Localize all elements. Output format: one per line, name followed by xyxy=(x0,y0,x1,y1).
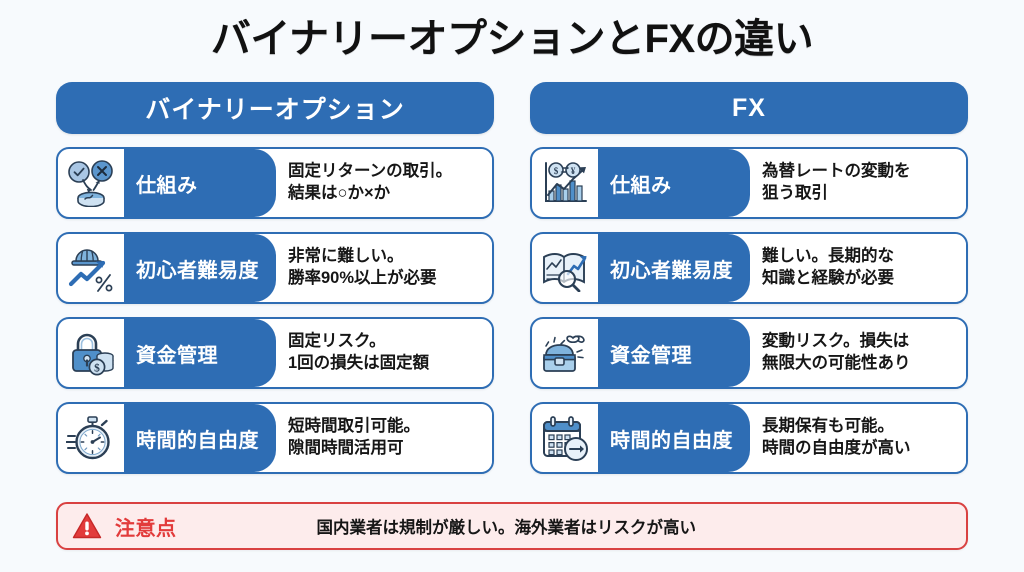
table-row: 資金管理 変動リスク。損失は 無限大の可能性あり xyxy=(530,317,968,389)
row-label: 資金管理 xyxy=(598,319,750,387)
currency-exchange-chart-icon: $ ¥ xyxy=(532,149,598,217)
row-left-band: 時間的自由度 xyxy=(532,404,750,472)
row-desc-line: 変動リスク。損失は xyxy=(762,331,958,353)
table-row: $ 資金管理 固定リスク。 1回の損失は固定額 xyxy=(56,317,494,389)
column-binary-option: バイナリーオプション xyxy=(56,82,494,474)
row-desc-line: 短時間取引可能。 xyxy=(288,416,484,438)
calendar-arrow-icon xyxy=(532,404,598,472)
warning-bar: 注意点 国内業者は規制が厳しい。海外業者はリスクが高い xyxy=(56,502,968,550)
row-label: 資金管理 xyxy=(124,319,276,387)
row-label: 初心者難易度 xyxy=(124,234,276,302)
row-left-band: $ ¥ 仕組み xyxy=(532,149,750,217)
treasure-chest-infinity-icon xyxy=(532,319,598,387)
row-left-band: 資金管理 xyxy=(532,319,750,387)
row-description: 固定リスク。 1回の損失は固定額 xyxy=(276,319,492,387)
row-description: 短時間取引可能。 隙間時間活用可 xyxy=(276,404,492,472)
column-header-binary-option: バイナリーオプション xyxy=(56,82,494,134)
table-row: 時間的自由度 長期保有も可能。 時間の自由度が高い xyxy=(530,402,968,474)
comparison-columns: バイナリーオプション xyxy=(0,62,1024,474)
svg-text:¥: ¥ xyxy=(571,166,576,176)
warning-text: 国内業者は規制が厳しい。海外業者はリスクが高い xyxy=(177,514,967,538)
row-description: 変動リスク。損失は 無限大の可能性あり xyxy=(750,319,966,387)
row-description: 為替レートの変動を 狙う取引 xyxy=(750,149,966,217)
table-row: $ ¥ 仕組み 為替レートの変動を 狙う取引 xyxy=(530,147,968,219)
rows-binary-option: 仕組み 固定リターンの取引。 結果は○か×か xyxy=(56,147,494,474)
row-desc-line: 1回の損失は固定額 xyxy=(288,353,484,375)
table-row: 時間的自由度 短時間取引可能。 隙間時間活用可 xyxy=(56,402,494,474)
row-description: 難しい。長期的な 知識と経験が必要 xyxy=(750,234,966,302)
row-left-band: 時間的自由度 xyxy=(58,404,276,472)
row-desc-line: 長期保有も可能。 xyxy=(762,416,958,438)
padlock-coins-icon: $ xyxy=(58,319,124,387)
row-left-band: 仕組み xyxy=(58,149,276,217)
row-left-band: 初心者難易度 xyxy=(532,234,750,302)
row-desc-line: 結果は○か×か xyxy=(288,183,484,205)
row-desc-line: 時間の自由度が高い xyxy=(762,438,958,460)
row-label: 初心者難易度 xyxy=(598,234,750,302)
column-header-fx: FX xyxy=(530,82,968,134)
row-label: 時間的自由度 xyxy=(124,404,276,472)
row-desc-line: 固定リスク。 xyxy=(288,331,484,353)
svg-text:$: $ xyxy=(94,362,100,375)
row-desc-line: 固定リターンの取引。 xyxy=(288,161,484,183)
row-desc-line: 為替レートの変動を xyxy=(762,161,958,183)
rows-fx: $ ¥ 仕組み 為替レートの変動を 狙う取引 xyxy=(530,147,968,474)
warning-triangle-icon xyxy=(72,512,102,540)
check-cross-coin-icon xyxy=(58,149,124,217)
page-title: バイナリーオプションとFXの違い xyxy=(0,0,1024,62)
row-desc-line: 難しい。長期的な xyxy=(762,246,958,268)
table-row: 初心者難易度 難しい。長期的な 知識と経験が必要 xyxy=(530,232,968,304)
row-desc-line: 勝率90%以上が必要 xyxy=(288,268,484,290)
warning-label: 注意点 xyxy=(115,512,177,541)
stopwatch-icon xyxy=(58,404,124,472)
row-description: 長期保有も可能。 時間の自由度が高い xyxy=(750,404,966,472)
row-desc-line: 知識と経験が必要 xyxy=(762,268,958,290)
table-row: 仕組み 固定リターンの取引。 結果は○か×か xyxy=(56,147,494,219)
row-left-band: $ 資金管理 xyxy=(58,319,276,387)
row-label: 仕組み xyxy=(124,149,276,217)
hardhat-growth-percent-icon xyxy=(58,234,124,302)
row-left-band: 初心者難易度 xyxy=(58,234,276,302)
svg-text:$: $ xyxy=(554,166,559,176)
row-desc-line: 隙間時間活用可 xyxy=(288,438,484,460)
row-description: 非常に難しい。 勝率90%以上が必要 xyxy=(276,234,492,302)
table-row: 初心者難易度 非常に難しい。 勝率90%以上が必要 xyxy=(56,232,494,304)
row-desc-line: 無限大の可能性あり xyxy=(762,353,958,375)
row-description: 固定リターンの取引。 結果は○か×か xyxy=(276,149,492,217)
row-label: 時間的自由度 xyxy=(598,404,750,472)
column-fx: FX xyxy=(530,82,968,474)
row-label: 仕組み xyxy=(598,149,750,217)
book-chart-magnifier-icon xyxy=(532,234,598,302)
row-desc-line: 非常に難しい。 xyxy=(288,246,484,268)
row-desc-line: 狙う取引 xyxy=(762,183,958,205)
